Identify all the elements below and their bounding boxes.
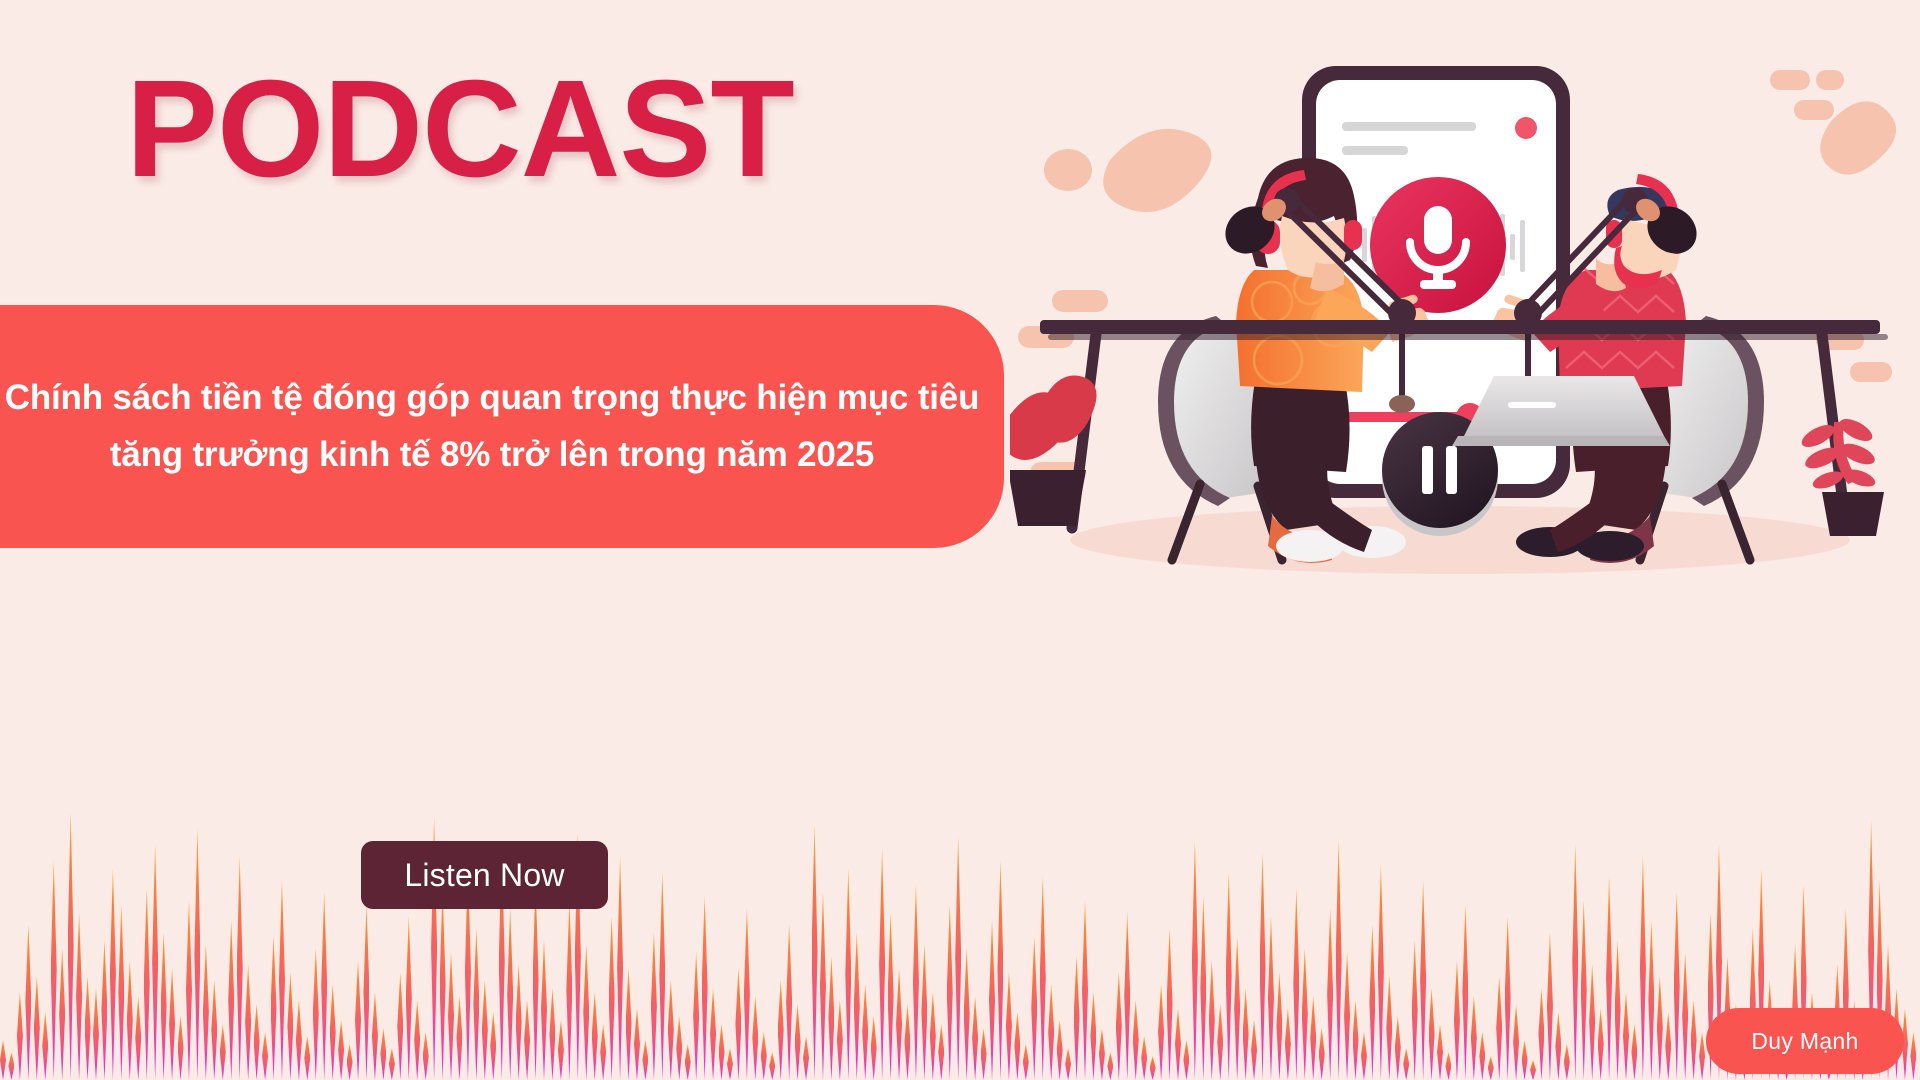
waveform-bar [135, 996, 141, 1080]
waveform-bar [178, 1016, 184, 1080]
waveform-bar [1209, 960, 1215, 1080]
waveform-bar [1420, 880, 1426, 1080]
waveform-bar [1606, 876, 1612, 1080]
waveform-bar [837, 1000, 843, 1080]
waveform-bar [1522, 1040, 1528, 1080]
waveform-bar [1234, 936, 1240, 1080]
waveform-bar [1268, 916, 1274, 1080]
waveform-bar [1496, 976, 1502, 1080]
waveform-bar [1158, 984, 1164, 1080]
waveform-bar [262, 1032, 268, 1080]
waveform-bar [1631, 1024, 1637, 1080]
waveform-bar [1319, 1028, 1325, 1080]
waveform-bar [1031, 936, 1037, 1080]
waveform-bar [583, 944, 589, 1080]
waveform-bar [144, 888, 150, 1080]
waveform-bar [668, 980, 674, 1080]
waveform-bar [854, 932, 860, 1080]
waveform-bar [482, 980, 488, 1080]
waveform-bar [1369, 924, 1375, 1080]
waveform-bar [812, 824, 818, 1080]
waveform-bar [304, 1036, 310, 1080]
waveform-bar [617, 856, 623, 1080]
waveform-bar [913, 884, 919, 1080]
waveform-bar [600, 1024, 606, 1080]
waveform-bar [279, 880, 285, 1080]
waveform-bar [254, 1004, 260, 1080]
waveform-bar [820, 892, 826, 1080]
waveform-bar [947, 904, 953, 1080]
waveform-bar [17, 992, 23, 1080]
waveform-bar [1293, 888, 1299, 1080]
waveform-bar [380, 1028, 386, 1080]
waveform-bar [1192, 840, 1198, 1080]
waveform-bar [1285, 1008, 1291, 1080]
waveform-bar [1471, 996, 1477, 1080]
waveform-bar [1598, 1008, 1604, 1080]
waveform-bar [803, 1036, 809, 1080]
waveform-bar [1226, 872, 1232, 1080]
headline-line-2: tăng trưởng kinh tế 8% trở lên trong năm… [110, 427, 874, 484]
waveform-bar [76, 912, 82, 1080]
waveform-bar [964, 948, 970, 1080]
waveform-bar [1107, 1052, 1113, 1080]
waveform-bar [228, 920, 234, 1080]
waveform-bar [871, 1016, 877, 1080]
waveform-bar [1505, 916, 1511, 1080]
waveform-bar [752, 996, 758, 1080]
waveform-bar [1462, 904, 1468, 1080]
waveform-bar [1386, 976, 1392, 1080]
waveform-bar [296, 1000, 302, 1080]
waveform-bar [1260, 852, 1266, 1080]
waveform-bar [1691, 1000, 1697, 1080]
waveform-bar [1057, 1020, 1063, 1080]
waveform-bar [1200, 896, 1206, 1080]
waveform-bar [1302, 948, 1308, 1080]
waveform-bar [1082, 900, 1088, 1080]
waveform-bar [1006, 972, 1012, 1080]
waveform-bar [989, 920, 995, 1080]
waveform-bar [1124, 912, 1130, 1080]
waveform-bar [118, 904, 124, 1080]
waveform-bar [1116, 972, 1122, 1080]
waveform-bar [1437, 1024, 1443, 1080]
headline-banner: Chính sách tiền tệ đóng góp quan trọng t… [0, 305, 1004, 548]
waveform-bar [778, 980, 784, 1080]
screen-text-line-1 [1342, 122, 1476, 131]
waveform-bar [1513, 1004, 1519, 1080]
waveform-bar [0, 1040, 6, 1080]
waveform-bar [1014, 1012, 1020, 1080]
waveform-bar [8, 1052, 14, 1080]
author-badge[interactable]: Duy Mạnh [1706, 1008, 1904, 1074]
waveform-bar [347, 1044, 353, 1080]
waveform-bar [372, 992, 378, 1080]
waveform-bar [363, 904, 369, 1080]
waveform-bar [685, 1044, 691, 1080]
waveform-bar [1183, 1040, 1189, 1080]
waveform-bar [152, 844, 158, 1080]
waveform-bar [1488, 1056, 1494, 1080]
waveform-bar [1530, 1060, 1536, 1080]
waveform-bar [626, 968, 632, 1080]
waveform-bar [744, 908, 750, 1080]
podcast-illustration [1010, 30, 1910, 690]
waveform-bar [51, 860, 57, 1080]
waveform-bar [1023, 1044, 1029, 1080]
waveform-bar [1547, 932, 1553, 1080]
waveform-bar [1141, 1036, 1147, 1080]
waveform-bar [1074, 956, 1080, 1080]
waveform-bar [1445, 1052, 1451, 1080]
waveform-bar [1150, 1056, 1156, 1080]
waveform-bar [1429, 988, 1435, 1080]
waveform-bar [1167, 928, 1173, 1080]
waveform-bar [541, 940, 547, 1080]
waveform-bar [203, 944, 209, 1080]
waveform-bar [592, 992, 598, 1080]
waveform-bar [1243, 988, 1249, 1080]
waveform-bar [879, 848, 885, 1080]
waveform-bar [448, 952, 454, 1080]
waveform-bar [1175, 1008, 1181, 1080]
waveform-bar [845, 868, 851, 1080]
waveform-bar [1615, 940, 1621, 1080]
waveform-bar [406, 916, 412, 1080]
waveform-bar [34, 976, 40, 1080]
waveform-bar [490, 1012, 496, 1080]
waveform-bar [473, 928, 479, 1080]
screen-text-line-2 [1342, 146, 1408, 155]
waveform-bar [1361, 1032, 1367, 1080]
waveform-bar [719, 1024, 725, 1080]
waveform-bar [1454, 960, 1460, 1080]
waveform-bar [1327, 908, 1333, 1080]
waveform-bar [702, 896, 708, 1080]
waveform-bar [710, 988, 716, 1080]
waveform-bar [558, 1020, 564, 1080]
waveform-bar [211, 980, 217, 1080]
waveform-bar [904, 1004, 910, 1080]
waveform-bar [1065, 1048, 1071, 1080]
listen-now-button[interactable]: Listen Now [361, 841, 608, 909]
waveform-bar [169, 968, 175, 1080]
waveform-bar [414, 1000, 420, 1080]
waveform-bar [896, 968, 902, 1080]
waveform-bar [1623, 992, 1629, 1080]
waveform-bar [1648, 920, 1654, 1080]
waveform-bar [1910, 1032, 1916, 1080]
waveform-bar [321, 892, 327, 1080]
waveform-bar [330, 984, 336, 1080]
waveform-bar [161, 932, 167, 1080]
waveform-bar [1353, 1000, 1359, 1080]
waveform-bar [507, 908, 513, 1080]
waveform-bar [440, 888, 446, 1080]
waveform-bar [287, 972, 293, 1080]
waveform-bar [456, 996, 462, 1080]
waveform-bar [389, 1048, 395, 1080]
waveform-bar [68, 812, 74, 1080]
waveform-bar [186, 900, 192, 1080]
plant-right [1798, 414, 1884, 536]
waveform-bar [516, 964, 522, 1080]
waveform-bar [1251, 1020, 1257, 1080]
waveform-bar [271, 936, 277, 1080]
waveform-bar [59, 948, 65, 1080]
waveform-bar [1572, 844, 1578, 1080]
waveform-bar [1640, 856, 1646, 1080]
waveform-bar [642, 1040, 648, 1080]
waveform-bar [955, 836, 961, 1080]
audio-waveform [0, 650, 1920, 1080]
waveform-bar [85, 976, 91, 1080]
waveform-bar [313, 948, 319, 1080]
waveform-bar [676, 1016, 682, 1080]
waveform-bar [1310, 996, 1316, 1080]
waveform-bar [1276, 972, 1282, 1080]
waveform-bar [921, 944, 927, 1080]
waveform-bar [735, 968, 741, 1080]
waveform-bar [930, 992, 936, 1080]
waveform-bar [659, 872, 665, 1080]
waveform-bar [1479, 1032, 1485, 1080]
waveform-bar [25, 924, 31, 1080]
waveform-bar [1699, 1032, 1705, 1080]
waveform-bar [1589, 964, 1595, 1080]
waveform-bar [1665, 1012, 1671, 1080]
waveform-bar [997, 860, 1003, 1080]
waveform-bar [1395, 1016, 1401, 1080]
waveform-bar [1217, 1004, 1223, 1080]
waveform-bar [338, 1020, 344, 1080]
headline-line-1: Chính sách tiền tệ đóng góp quan trọng t… [5, 370, 979, 427]
waveform-bar [397, 972, 403, 1080]
waveform-bar [1555, 1012, 1561, 1080]
waveform-bar [972, 996, 978, 1080]
waveform-bar [769, 1052, 775, 1080]
waveform-bar [1564, 1044, 1570, 1080]
waveform-bar [1538, 988, 1544, 1080]
waveform-bar [761, 1032, 767, 1080]
waveform-bar [727, 1048, 733, 1080]
waveform-bar [42, 1012, 48, 1080]
waveform-bar [786, 924, 792, 1080]
waveform-bar [127, 960, 133, 1080]
poster-canvas: PODCAST Chính sách tiền tệ đóng góp quan… [0, 0, 1920, 1080]
waveform-bar [549, 988, 555, 1080]
waveform-bar [245, 964, 251, 1080]
waveform-bar [1099, 1028, 1105, 1080]
waveform-bar [609, 916, 615, 1080]
waveform-bar [1581, 900, 1587, 1080]
waveform-bar [194, 828, 200, 1080]
waveform-bar [981, 1028, 987, 1080]
waveform-bar [938, 1024, 944, 1080]
waveform-bar [888, 912, 894, 1080]
waveform-bar [862, 984, 868, 1080]
waveform-bar [237, 856, 243, 1080]
page-title: PODCAST [126, 60, 794, 198]
waveform-bar [651, 932, 657, 1080]
waveform-bar [693, 952, 699, 1080]
waveform-bar [355, 960, 361, 1080]
record-dot-icon [1515, 117, 1537, 139]
waveform-bar [634, 1008, 640, 1080]
waveform-bar [1048, 984, 1054, 1080]
waveform-bar [423, 1032, 429, 1080]
waveform-bar [1657, 976, 1663, 1080]
waveform-bar [828, 956, 834, 1080]
waveform-bar [1133, 1000, 1139, 1080]
waveform-bar [1090, 992, 1096, 1080]
waveform-bar [93, 988, 99, 1080]
waveform-bar [1682, 952, 1688, 1080]
waveform-bar [101, 940, 107, 1080]
waveform-bar [1040, 876, 1046, 1080]
waveform-bar [524, 1000, 530, 1080]
waveform-bar [1344, 952, 1350, 1080]
waveform-bar [1336, 840, 1342, 1080]
waveform-bar [1378, 864, 1384, 1080]
waveform-bar [566, 900, 572, 1080]
waveform-bar [795, 1004, 801, 1080]
waveform-bar [220, 1024, 226, 1080]
waveform-bar [1403, 1048, 1409, 1080]
waveform-bar [110, 868, 116, 1080]
waveform-bar [1674, 892, 1680, 1080]
waveform-bar [1412, 940, 1418, 1080]
waveform-bar [533, 880, 539, 1080]
